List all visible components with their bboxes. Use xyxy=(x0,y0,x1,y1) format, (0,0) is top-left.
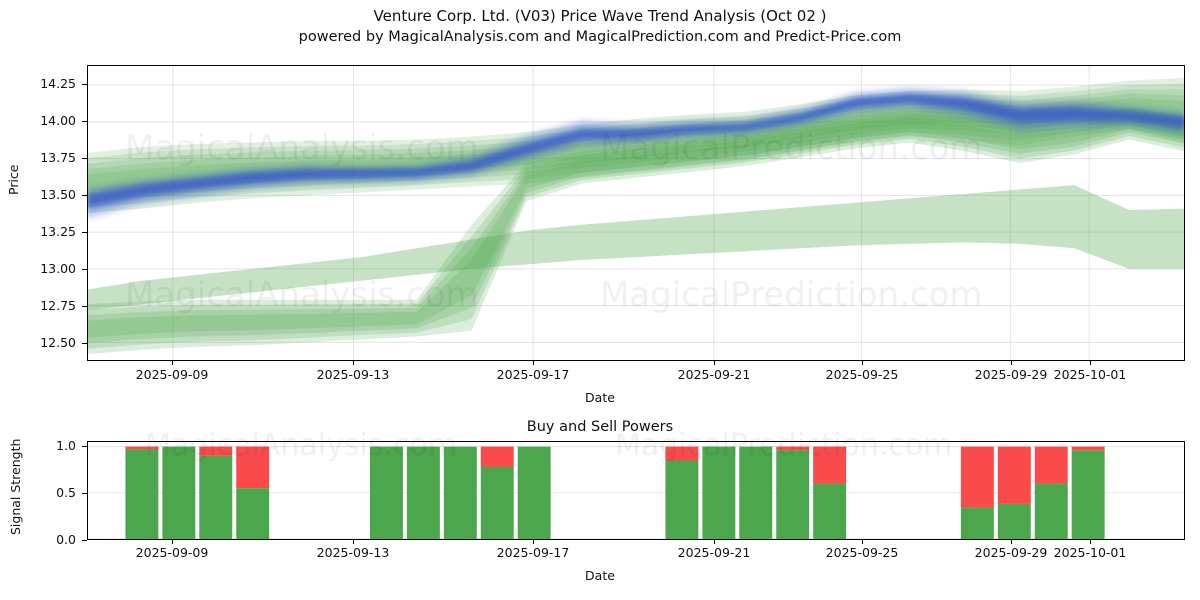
signal-panel-title: Buy and Sell Powers xyxy=(0,419,1200,435)
price-wave-svg xyxy=(88,66,1184,360)
signal-xtick-mark xyxy=(1090,540,1091,544)
sell-power-bar[interactable] xyxy=(199,447,232,456)
price-ytick-label: 12.50 xyxy=(6,335,76,350)
price-xaxis-title: Date xyxy=(0,390,1200,405)
signal-xtick-label: 2025-09-13 xyxy=(317,545,390,560)
buy-power-bar[interactable] xyxy=(1035,484,1068,539)
signal-ytick-mark xyxy=(82,540,87,541)
price-ytick-label: 13.00 xyxy=(6,261,76,276)
signal-xtick-label: 2025-09-17 xyxy=(497,545,570,560)
signal-xtick-mark xyxy=(172,540,173,544)
signal-ytick-label: 0.5 xyxy=(6,485,76,500)
buy-power-bar[interactable] xyxy=(125,449,158,539)
price-xtick-label: 2025-09-13 xyxy=(317,367,390,382)
price-ytick-label: 13.25 xyxy=(6,224,76,239)
page-subtitle: powered by MagicalAnalysis.com and Magic… xyxy=(0,27,1200,48)
buy-power-bar[interactable] xyxy=(407,447,440,539)
buy-power-bar[interactable] xyxy=(199,456,232,539)
sell-power-bar[interactable] xyxy=(813,447,846,484)
buy-power-bar[interactable] xyxy=(481,467,514,539)
price-ytick-label: 12.75 xyxy=(6,298,76,313)
signal-xtick-mark xyxy=(862,540,863,544)
support-band xyxy=(88,185,1184,310)
buy-power-bar[interactable] xyxy=(162,447,195,539)
buy-power-bar[interactable] xyxy=(702,447,735,539)
price-xtick-mark xyxy=(172,361,173,365)
buy-power-bar[interactable] xyxy=(961,508,994,539)
price-ytick-label: 14.25 xyxy=(6,76,76,91)
price-xtick-label: 2025-10-01 xyxy=(1054,367,1127,382)
buy-power-bar[interactable] xyxy=(665,460,698,539)
sell-power-bar[interactable] xyxy=(1035,447,1068,484)
price-ytick-label: 13.50 xyxy=(6,187,76,202)
signal-ytick-label: 0.0 xyxy=(6,532,76,547)
chart-page: Venture Corp. Ltd. (V03) Price Wave Tren… xyxy=(0,0,1200,600)
buy-power-bar[interactable] xyxy=(518,447,551,539)
signal-xtick-mark xyxy=(353,540,354,544)
buy-power-bar[interactable] xyxy=(236,488,269,539)
sell-power-bar[interactable] xyxy=(125,447,158,450)
signal-xtick-label: 2025-10-01 xyxy=(1054,545,1127,560)
price-xtick-label: 2025-09-29 xyxy=(975,367,1048,382)
buy-power-bar[interactable] xyxy=(776,450,809,539)
signal-xtick-label: 2025-09-25 xyxy=(826,545,899,560)
price-ytick-label: 14.00 xyxy=(6,113,76,128)
price-xtick-mark xyxy=(353,361,354,365)
buy-power-bar[interactable] xyxy=(998,504,1031,539)
price-xtick-mark xyxy=(1011,361,1012,365)
sell-power-bar[interactable] xyxy=(998,447,1031,504)
price-xtick-label: 2025-09-09 xyxy=(136,367,209,382)
signal-xtick-label: 2025-09-09 xyxy=(136,545,209,560)
buy-power-bar[interactable] xyxy=(813,484,846,539)
buy-power-bar[interactable] xyxy=(444,447,477,539)
buy-power-bar[interactable] xyxy=(1072,450,1105,539)
sell-power-bar[interactable] xyxy=(481,447,514,467)
price-xtick-mark xyxy=(533,361,534,365)
page-title: Venture Corp. Ltd. (V03) Price Wave Tren… xyxy=(0,6,1200,27)
sell-power-bar[interactable] xyxy=(236,447,269,489)
signal-xtick-label: 2025-09-21 xyxy=(678,545,751,560)
signal-xaxis-title: Date xyxy=(0,568,1200,583)
sell-power-bar[interactable] xyxy=(961,447,994,508)
signal-xtick-mark xyxy=(1011,540,1012,544)
buy-power-bar[interactable] xyxy=(739,447,772,539)
title-block: Venture Corp. Ltd. (V03) Price Wave Tren… xyxy=(0,6,1200,48)
price-wave-plot xyxy=(87,65,1185,361)
price-xtick-label: 2025-09-21 xyxy=(678,367,751,382)
signal-ytick-label: 1.0 xyxy=(6,438,76,453)
sell-power-bar[interactable] xyxy=(776,447,809,451)
price-xtick-mark xyxy=(714,361,715,365)
sell-power-bar[interactable] xyxy=(1072,447,1105,451)
signal-xtick-mark xyxy=(533,540,534,544)
price-xtick-label: 2025-09-25 xyxy=(826,367,899,382)
buy-sell-powers-plot xyxy=(87,441,1185,540)
sell-power-bar[interactable] xyxy=(665,447,698,461)
buy-sell-svg xyxy=(88,442,1184,539)
signal-xtick-mark xyxy=(714,540,715,544)
price-xtick-mark xyxy=(1090,361,1091,365)
buy-power-bar[interactable] xyxy=(370,447,403,539)
price-xtick-label: 2025-09-17 xyxy=(497,367,570,382)
signal-xtick-label: 2025-09-29 xyxy=(975,545,1048,560)
price-xtick-mark xyxy=(862,361,863,365)
price-ytick-label: 13.75 xyxy=(6,150,76,165)
